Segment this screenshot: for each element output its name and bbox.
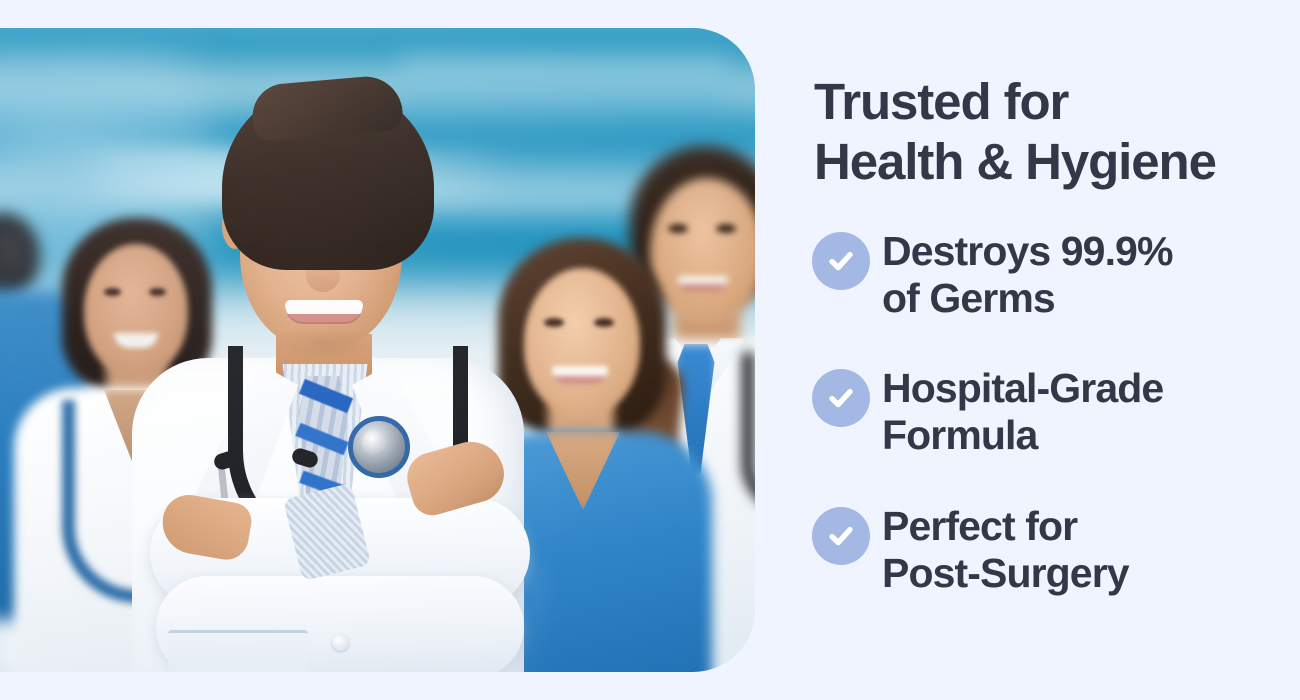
nurse-face: [524, 268, 640, 416]
medical-team-photo: [0, 28, 755, 672]
benefit-line-2: Post-Surgery: [882, 550, 1129, 597]
background-doctor-smile: [678, 276, 728, 291]
headline-line-1: Trusted for: [814, 72, 1300, 132]
background-doctor-right-eye: [716, 224, 736, 233]
benefit-line-2: Formula: [882, 412, 1163, 459]
main-doctor-coat-button: [332, 634, 349, 651]
benefit-line-1: Perfect for: [882, 503, 1129, 550]
female-doctor-left-eye: [104, 288, 121, 296]
promotional-banner: Trusted for Health & Hygiene Destroys 99…: [0, 0, 1300, 700]
benefit-label: Perfect for Post-Surgery: [882, 503, 1129, 596]
main-doctor-chin: [272, 324, 376, 362]
background-doctor-face: [650, 178, 755, 324]
benefit-line-1: Destroys 99.9%: [882, 228, 1173, 275]
nurse-smile: [552, 366, 608, 384]
check-circle-icon: [812, 369, 870, 427]
benefit-line-1: Hospital-Grade: [882, 365, 1163, 412]
benefit-label: Hospital-Grade Formula: [882, 365, 1163, 458]
background-doctor-left-eye: [668, 224, 688, 233]
photo-scene: [0, 28, 755, 672]
benefit-item-destroys-germs: Destroys 99.9% of Germs: [812, 228, 1300, 321]
page-title: Trusted for Health & Hygiene: [814, 72, 1300, 191]
main-doctor-smile: [285, 300, 363, 324]
benefit-item-post-surgery: Perfect for Post-Surgery: [812, 503, 1300, 596]
female-doctor-face: [84, 244, 188, 376]
check-circle-icon: [812, 507, 870, 565]
check-circle-icon: [812, 232, 870, 290]
benefits-list: Destroys 99.9% of Germs Hospital-Grade F…: [812, 228, 1300, 596]
benefit-item-hospital-grade: Hospital-Grade Formula: [812, 365, 1300, 458]
nurse-left-eye: [544, 318, 564, 327]
benefit-label: Destroys 99.9% of Germs: [882, 228, 1173, 321]
nurse-right-eye: [594, 318, 614, 327]
main-doctor-coat-pocket: [168, 630, 308, 672]
female-doctor-right-eye: [149, 288, 166, 296]
main-doctor-stethoscope-diaphragm: [362, 430, 386, 454]
benefit-line-2: of Germs: [882, 275, 1173, 322]
headline-line-2: Health & Hygiene: [814, 132, 1300, 192]
content-panel: Trusted for Health & Hygiene Destroys 99…: [810, 0, 1300, 700]
